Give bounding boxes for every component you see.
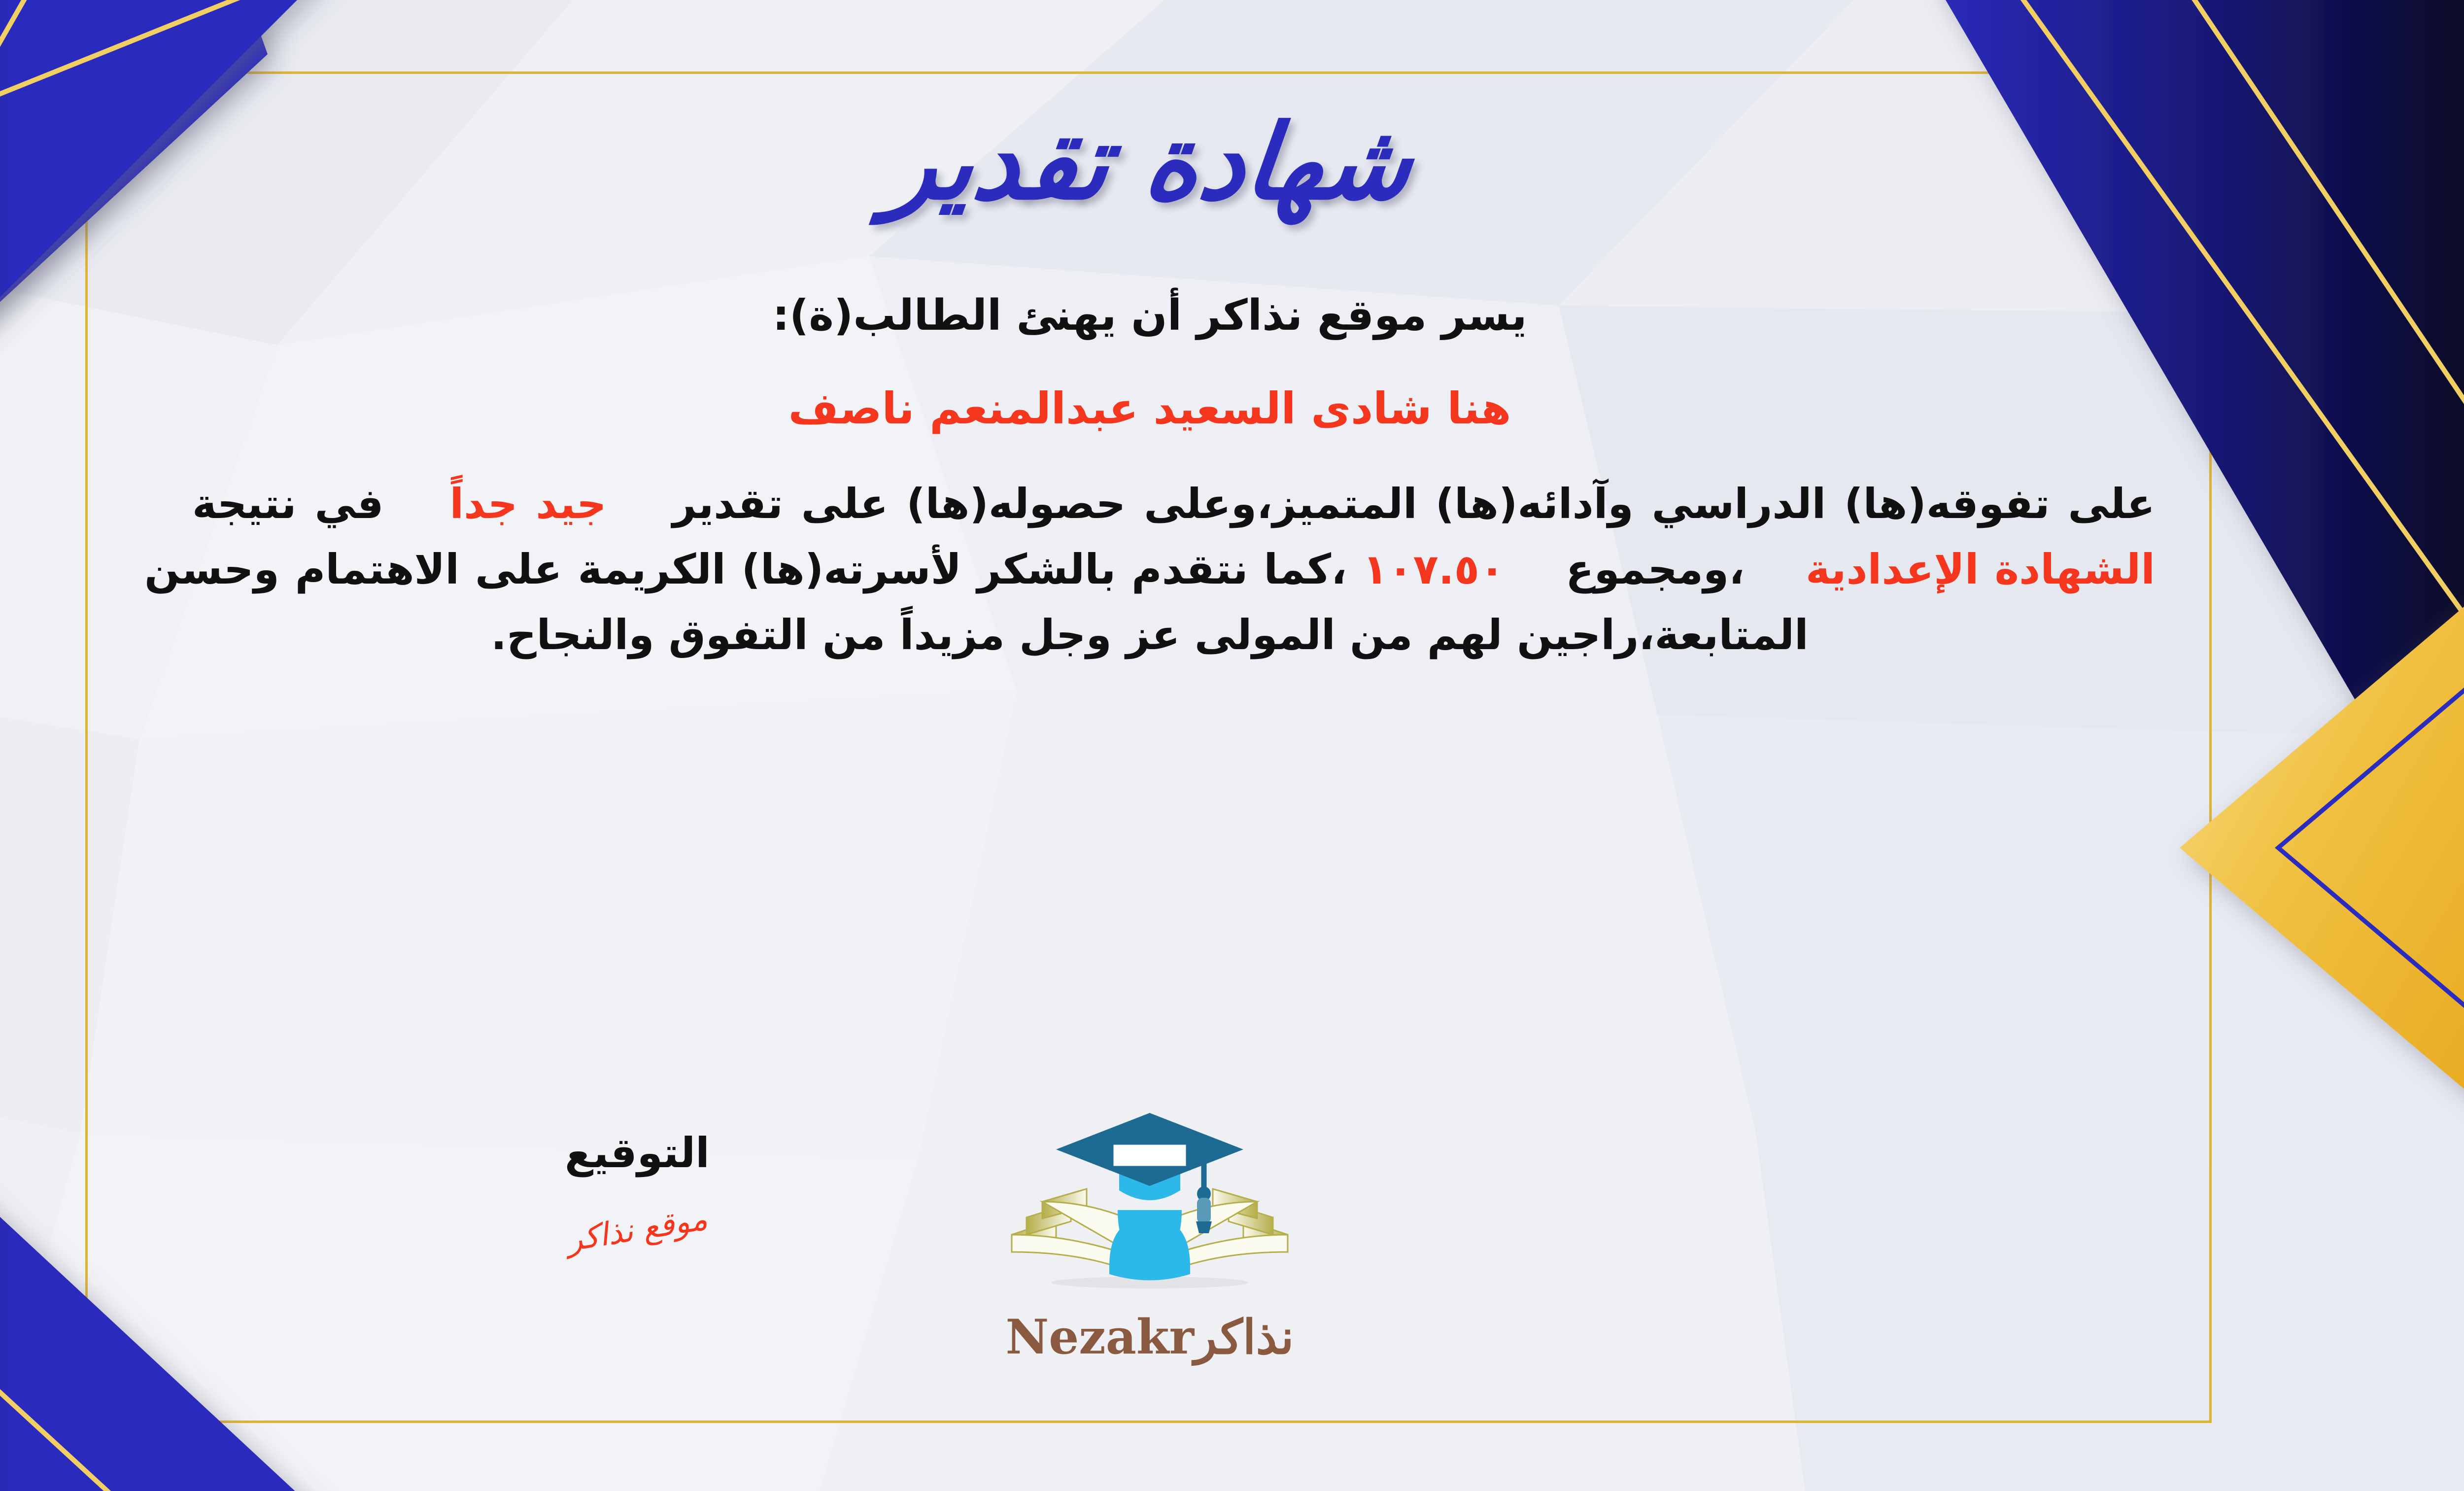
- signature-area: التوقيع موقع نذاكر: [450, 1129, 824, 1248]
- student-name: هنا شادى السعيد عبدالمنعم ناصف: [144, 374, 2155, 444]
- certificate-body: يسر موقع نذاكر أن يهنئ الطالب(ة): هنا شا…: [110, 281, 2190, 668]
- achievement-text-part4: ،كما نتقدم بالشكر لأسرته(ها) الكريمة على…: [144, 545, 1809, 659]
- grade-value: جيد جداً: [449, 480, 606, 528]
- signature-label: التوقيع: [450, 1129, 824, 1177]
- certificate-content: شهادة تقدير يسر موقع نذاكر أن يهنئ الطال…: [110, 89, 2190, 1410]
- site-logo: نذاكرNezakr: [997, 1104, 1302, 1365]
- page-title: شهادة تقدير: [104, 108, 2195, 217]
- exam-name: الشهادة الإعدادية: [1806, 545, 2155, 593]
- achievement-text-part2: في نتيجة: [192, 480, 384, 528]
- logo-wordmark: نذاكرNezakr: [997, 1309, 1302, 1365]
- logo-latin-name: Nezakr: [1005, 1309, 1194, 1365]
- logo-graphic: [997, 1104, 1302, 1316]
- greeting-line: يسر موقع نذاكر أن يهنئ الطالب(ة):: [144, 281, 2155, 350]
- achievement-text-part1: على تفوقه(ها) الدراسي وآدائه(ها) المتميز…: [672, 480, 2155, 528]
- certificate-page: شهادة تقدير يسر موقع نذاكر أن يهنئ الطال…: [0, 0, 2464, 1491]
- achievement-paragraph: على تفوقه(ها) الدراسي وآدائه(ها) المتميز…: [144, 471, 2155, 667]
- certificate-footer: التوقيع موقع نذاكر: [110, 1099, 2190, 1395]
- logo-arabic-name: نذاكر: [1194, 1309, 1294, 1365]
- achievement-text-part3: ،ومجموع: [1566, 545, 1745, 593]
- total-score: ١٠٧.٥٠: [1363, 545, 1505, 593]
- signature-script: موقع نذاكر: [564, 1201, 710, 1259]
